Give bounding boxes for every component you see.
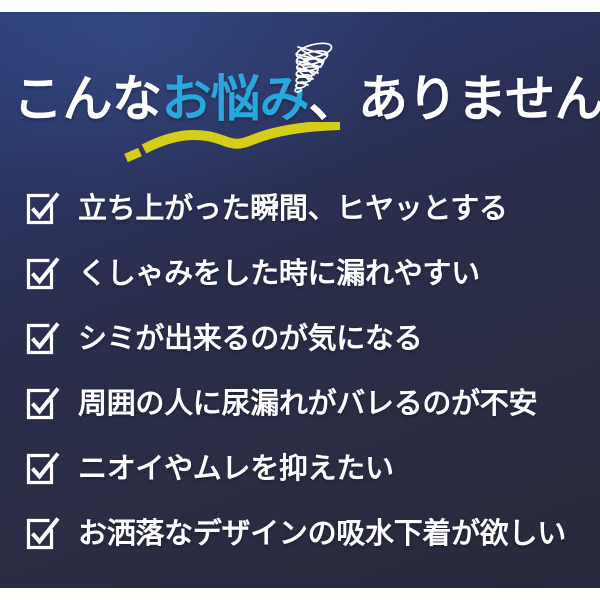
list-item[interactable]: くしゃみをした時に漏れやすい xyxy=(0,241,600,306)
list-item[interactable]: 周囲の人に尿漏れがバレるのが不安 xyxy=(0,371,600,436)
list-item-label: 周囲の人に尿漏れがバレるのが不安 xyxy=(78,387,600,421)
list-item-label: くしゃみをした時に漏れやすい xyxy=(78,257,600,291)
checkbox-checked-icon xyxy=(24,515,60,553)
list-item[interactable]: お洒落なデザインの吸水下着が欲しい xyxy=(0,501,600,566)
headline: こんなお悩み、ありませんか? xyxy=(13,68,593,134)
headline-accent: お悩み xyxy=(162,71,309,127)
checkbox-checked-icon xyxy=(24,190,60,228)
checkbox-checked-icon xyxy=(24,450,60,488)
list-item-label: ニオイやムレを抑えたい xyxy=(78,452,600,486)
checkbox-checked-icon xyxy=(24,255,60,293)
list-item-label: 立ち上がった瞬間、ヒヤッとする xyxy=(78,192,600,226)
headline-tail: 、ありませんか? xyxy=(309,71,600,127)
top-white-strip xyxy=(0,0,600,12)
list-item-label: お洒落なデザインの吸水下着が欲しい xyxy=(78,517,600,551)
bottom-white-strip xyxy=(0,588,600,600)
checklist: 立ち上がった瞬間、ヒヤッとする くしゃみをした時に漏れやすい シミが出来るのが気… xyxy=(0,176,600,566)
list-item[interactable]: ニオイやムレを抑えたい xyxy=(0,436,600,501)
checkbox-checked-icon xyxy=(24,385,60,423)
headline-lead: こんな xyxy=(13,71,162,127)
list-item[interactable]: シミが出来るのが気になる xyxy=(0,306,600,371)
checkbox-checked-icon xyxy=(24,320,60,358)
list-item[interactable]: 立ち上がった瞬間、ヒヤッとする xyxy=(0,176,600,241)
list-item-label: シミが出来るのが気になる xyxy=(78,322,600,356)
promo-poster: こんなお悩み、ありませんか? xyxy=(0,0,600,600)
